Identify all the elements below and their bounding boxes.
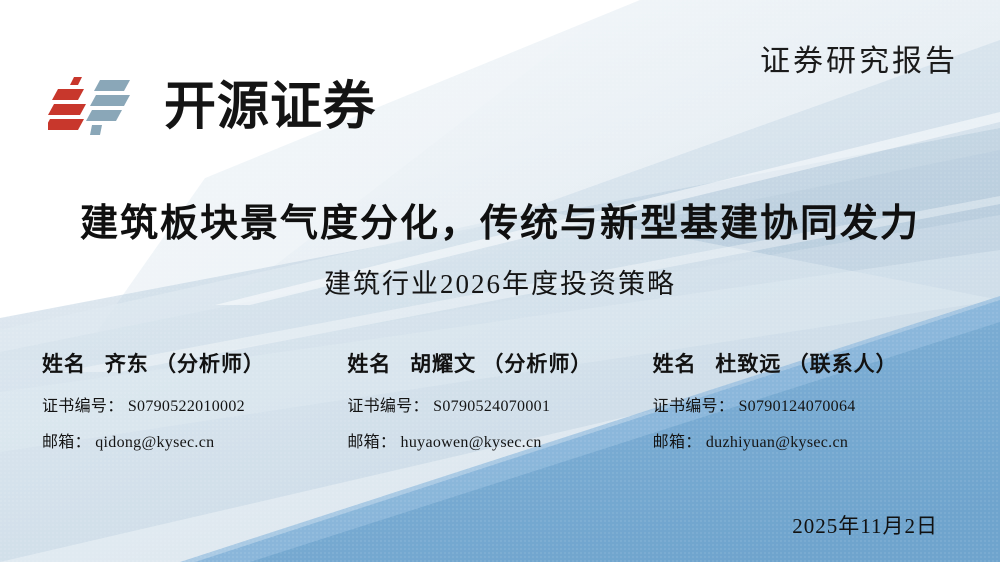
analyst-cert-label: 证书编号： [347, 398, 429, 415]
analyst-name: 杜致远 [715, 352, 781, 376]
report-cover: 证券研究报告 开源证券 建筑板块景气度分化，传统与新型基建协同发力 建筑行业20… [0, 0, 1000, 562]
analyst-role: （分析师） [155, 352, 265, 376]
analyst-name-line: 姓名 胡耀文 （分析师） [347, 348, 652, 378]
analyst-cert-line: 证书编号： S0790522010002 [42, 392, 347, 416]
analyst-cert-line: 证书编号： S0790124070064 [653, 392, 958, 416]
analyst-name: 胡耀文 [410, 352, 476, 376]
analyst-cert-number: S0790124070064 [738, 398, 855, 415]
brand-name: 开源证券 [164, 81, 376, 133]
analyst-email-label: 邮箱： [42, 434, 91, 451]
analyst-email[interactable]: duzhiyuan@kysec.cn [706, 434, 848, 451]
analyst-role: （联系人） [788, 352, 898, 376]
analyst-name-line: 姓名 齐东 （分析师） [42, 348, 347, 378]
analyst-cert-label: 证书编号： [42, 398, 124, 415]
brand-logo: 开源证券 [48, 74, 376, 140]
analyst-name-line: 姓名 杜致远 （联系人） [653, 348, 958, 378]
analyst-email[interactable]: huyaowen@kysec.cn [401, 434, 542, 451]
analyst-card: 姓名 齐东 （分析师） 证书编号： S0790522010002 邮箱： qid… [42, 348, 347, 464]
analyst-email-line: 邮箱： huyaowen@kysec.cn [347, 428, 652, 452]
report-type-kicker: 证券研究报告 [760, 36, 958, 80]
analyst-card: 姓名 胡耀文 （分析师） 证书编号： S0790524070001 邮箱： hu… [347, 348, 652, 464]
kysec-logo-icon [48, 74, 152, 140]
analyst-name-label: 姓名 [347, 352, 391, 376]
analyst-email-line: 邮箱： qidong@kysec.cn [42, 428, 347, 452]
analyst-card: 姓名 杜致远 （联系人） 证书编号： S0790124070064 邮箱： du… [653, 348, 958, 464]
page-title: 建筑板块景气度分化，传统与新型基建协同发力 [0, 192, 1000, 247]
analyst-name-label: 姓名 [653, 352, 697, 376]
analyst-cert-label: 证书编号： [653, 398, 735, 415]
analyst-email[interactable]: qidong@kysec.cn [95, 434, 214, 451]
analyst-email-line: 邮箱： duzhiyuan@kysec.cn [653, 428, 958, 452]
analyst-name-label: 姓名 [42, 352, 86, 376]
analyst-email-label: 邮箱： [653, 434, 702, 451]
publication-date: 2025年11月2日 [792, 510, 938, 540]
analyst-cert-number: S0790522010002 [128, 398, 245, 415]
analyst-cert-line: 证书编号： S0790524070001 [347, 392, 652, 416]
page-subtitle: 建筑行业2026年度投资策略 [0, 262, 1000, 301]
analyst-cert-number: S0790524070001 [433, 398, 550, 415]
analyst-email-label: 邮箱： [347, 434, 396, 451]
analyst-list: 姓名 齐东 （分析师） 证书编号： S0790522010002 邮箱： qid… [42, 348, 958, 464]
analyst-role: （分析师） [482, 352, 592, 376]
analyst-name: 齐东 [105, 352, 149, 376]
